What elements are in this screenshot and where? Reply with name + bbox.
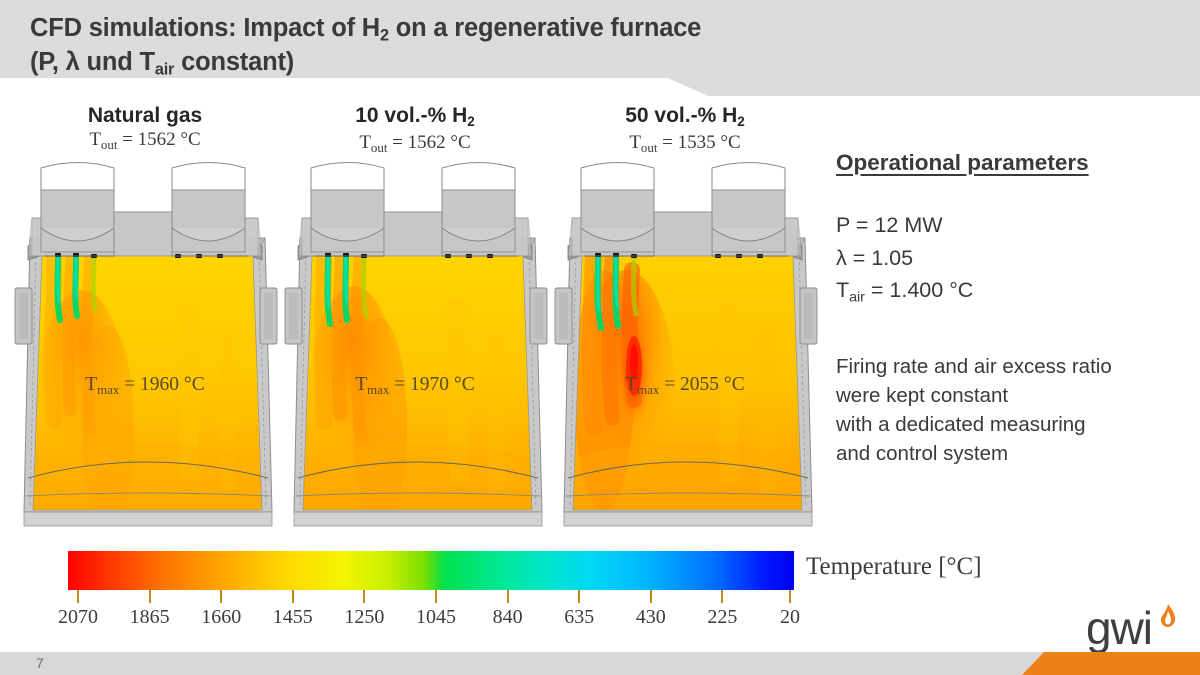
case-title-50-percent-h2: 50 vol.-% H2 <box>550 104 820 130</box>
title-line-2-post: constant) <box>174 48 294 76</box>
note-line-1: Firing rate and air excess ratio <box>836 352 1200 381</box>
colorbar-gradient <box>68 551 794 590</box>
title-line-1-pre: CFD simulations: Impact of H <box>30 14 380 42</box>
title-line-2: (P, λ und Tair constant) <box>30 46 850 80</box>
colorbar-tick-3: 1455 <box>273 606 313 629</box>
slide: CFD simulations: Impact of H2 on a regen… <box>0 0 1200 675</box>
title-line-2-sub: air <box>155 61 174 79</box>
colorbar-tick-1: 1865 <box>130 606 170 629</box>
colorbar-tick-0: 2070 <box>58 606 98 629</box>
slide-number: 7 <box>36 655 44 671</box>
case-title-10-percent-h2: 10 vol.-% H2 <box>280 104 550 130</box>
note-line-3: with a dedicated measuring <box>836 410 1200 439</box>
colorbar-tick-4: 1250 <box>344 606 384 629</box>
case-heading-50-percent-h2: 50 vol.-% H2 Tout = 1535 °C <box>550 104 820 155</box>
param-lambda: λ = 1.05 <box>836 243 1200 276</box>
param-power: P = 12 MW <box>836 210 1200 243</box>
svg-text:gwi: gwi <box>1086 602 1152 652</box>
case-tout-50-percent-h2: Tout = 1535 °C <box>550 132 820 156</box>
colorbar-title: Temperature [°C] <box>806 553 982 581</box>
colorbar-tick-10: 20 <box>780 606 800 629</box>
colorbar-tick-labels: 2070 1865 1660 1455 1250 1045 840 635 43… <box>68 606 794 634</box>
footer-accent-shape <box>1022 652 1200 675</box>
title-line-1-post: on a regenerative furnace <box>389 14 701 42</box>
colorbar-tick-6: 840 <box>493 606 523 629</box>
param-air-temperature: Tair = 1.400 °C <box>836 275 1200 308</box>
case-title-natural-gas: Natural gas <box>10 104 280 127</box>
gwi-logo: gwi <box>1086 600 1182 652</box>
case-heading-natural-gas: Natural gas Tout = 1562 °C <box>10 104 280 153</box>
colorbar-tick-8: 430 <box>636 606 666 629</box>
furnace-diagram-natural-gas: Tmax = 1960 °C <box>10 160 280 550</box>
furnace-diagram-50-percent-h2: Tmax = 2055 °C <box>550 160 820 550</box>
colorbar-ticks <box>68 590 794 604</box>
slide-footer <box>0 652 1200 675</box>
panel-note: Firing rate and air excess ratio were ke… <box>836 352 1200 468</box>
colorbar-tick-2: 1660 <box>201 606 241 629</box>
temperature-colorbar: 2070 1865 1660 1455 1250 1045 840 635 43… <box>68 551 794 634</box>
note-line-2: were kept constant <box>836 381 1200 410</box>
case-tout-natural-gas: Tout = 1562 °C <box>10 129 280 153</box>
page-title: CFD simulations: Impact of H2 on a regen… <box>30 12 850 81</box>
furnace-diagram-10-percent-h2: Tmax = 1970 °C <box>280 160 550 550</box>
title-line-2-pre: (P, λ und T <box>30 48 155 76</box>
panel-heading: Operational parameters <box>836 150 1200 176</box>
case-heading-10-percent-h2: 10 vol.-% H2 Tout = 1562 °C <box>280 104 550 155</box>
case-tout-10-percent-h2: Tout = 1562 °C <box>280 132 550 156</box>
operational-parameters-panel: Operational parameters P = 12 MW λ = 1.0… <box>836 150 1200 468</box>
title-line-1: CFD simulations: Impact of H2 on a regen… <box>30 12 850 46</box>
colorbar-tick-9: 225 <box>707 606 737 629</box>
title-line-1-sub: 2 <box>380 27 389 45</box>
note-line-4: and control system <box>836 439 1200 468</box>
colorbar-tick-7: 635 <box>564 606 594 629</box>
colorbar-tick-5: 1045 <box>416 606 456 629</box>
